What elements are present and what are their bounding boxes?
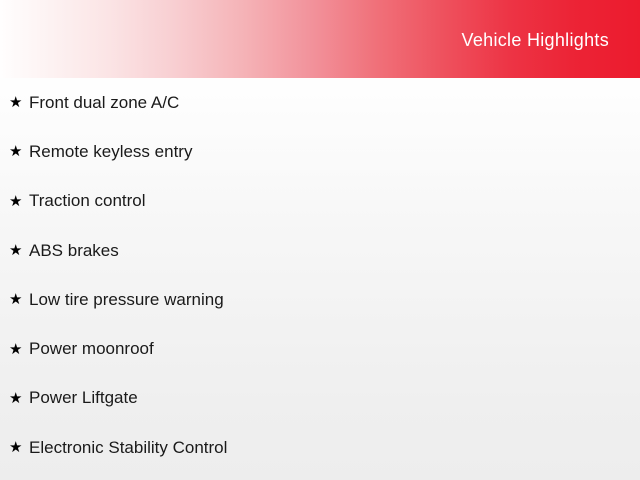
page-header: Vehicle Highlights	[0, 0, 640, 78]
list-item-label: Front dual zone A/C	[29, 93, 640, 113]
list-item-label: Power Liftgate	[29, 388, 640, 408]
star-icon: ★	[9, 292, 29, 307]
star-icon: ★	[9, 144, 29, 159]
star-icon: ★	[9, 391, 29, 406]
list-item: ★ Remote keyless entry	[0, 127, 640, 176]
list-item-label: Remote keyless entry	[29, 142, 640, 162]
list-item-label: Electronic Stability Control	[29, 438, 640, 458]
star-icon: ★	[9, 342, 29, 357]
list-item: ★ Electronic Stability Control	[0, 423, 640, 472]
list-item-label: Power moonroof	[29, 339, 640, 359]
list-item-label: ABS brakes	[29, 241, 640, 261]
star-icon: ★	[9, 194, 29, 209]
list-item: ★ Front dual zone A/C	[0, 78, 640, 127]
star-icon: ★	[9, 243, 29, 258]
star-icon: ★	[9, 95, 29, 110]
vehicle-highlights-page: Vehicle Highlights ★ Front dual zone A/C…	[0, 0, 640, 480]
star-icon: ★	[9, 440, 29, 455]
list-item: ★ Power Liftgate	[0, 374, 640, 423]
list-item: ★ Low tire pressure warning	[0, 275, 640, 324]
list-item-label: Traction control	[29, 191, 640, 211]
vehicle-highlights-list: ★ Front dual zone A/C ★ Remote keyless e…	[0, 78, 640, 472]
list-item: ★ Traction control	[0, 177, 640, 226]
list-item: ★ Power moonroof	[0, 324, 640, 373]
list-item: ★ ABS brakes	[0, 226, 640, 275]
list-item-label: Low tire pressure warning	[29, 290, 640, 310]
page-title: Vehicle Highlights	[462, 29, 609, 51]
